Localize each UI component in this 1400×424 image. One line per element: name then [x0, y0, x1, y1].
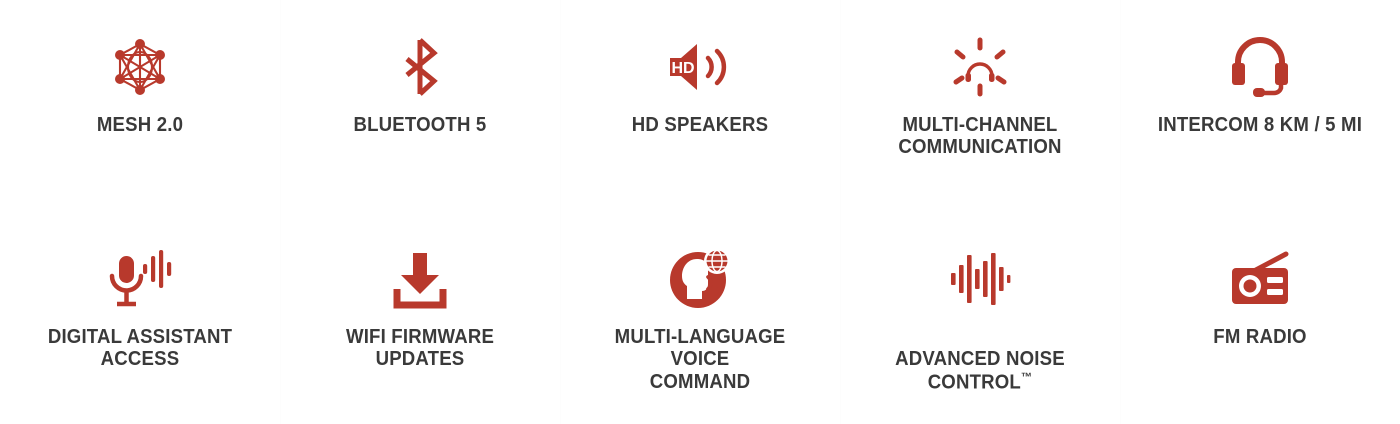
feature-item-wifi-firmware[interactable]: WIFI FIRMWARE UPDATES [280, 212, 560, 424]
feature-label: INTERCOM 8 KM / 5 MI [1144, 114, 1377, 136]
hd-speaker-icon: HD [664, 0, 736, 110]
svg-text:HD: HD [671, 60, 694, 77]
trademark-symbol: ™ [1021, 370, 1032, 384]
feature-label: BLUETOOTH 5 [304, 114, 537, 136]
feature-item-intercom[interactable]: INTERCOM 8 KM / 5 MI [1120, 0, 1400, 212]
feature-row: DIGITAL ASSISTANT ACCESS WIFI FIRMWARE U… [0, 212, 1400, 424]
feature-label: MULTI-LANGUAGE VOICE COMMAND [584, 326, 817, 393]
feature-item-multi-language[interactable]: MULTI-LANGUAGE VOICE COMMAND [560, 212, 840, 424]
feature-row: MESH 2.0 BLUETOOTH 5 HD [0, 0, 1400, 212]
feature-item-noise-control[interactable]: ADVANCED NOISE CONTROL™ [840, 212, 1120, 424]
feature-label: MULTI-CHANNEL COMMUNICATION [864, 114, 1097, 159]
speaking-head-globe-icon [667, 212, 733, 322]
headset-icon [1228, 0, 1292, 110]
microphone-voice-icon [103, 212, 177, 322]
feature-label: ADVANCED NOISE CONTROL™ [864, 326, 1097, 394]
feature-grid: MESH 2.0 BLUETOOTH 5 HD [0, 0, 1400, 424]
download-tray-icon [390, 212, 450, 322]
feature-item-fm-radio[interactable]: FM RADIO [1120, 212, 1400, 424]
radio-icon [1228, 212, 1292, 322]
audio-waveform-icon [949, 212, 1011, 322]
feature-label: HD SPEAKERS [584, 114, 817, 136]
bluetooth-icon [396, 0, 444, 110]
feature-label: WIFI FIRMWARE UPDATES [304, 326, 537, 371]
feature-item-hd-speakers[interactable]: HD HD SPEAKERS [560, 0, 840, 212]
feature-item-bluetooth[interactable]: BLUETOOTH 5 [280, 0, 560, 212]
feature-item-digital-assistant[interactable]: DIGITAL ASSISTANT ACCESS [0, 212, 280, 424]
feature-item-mesh[interactable]: MESH 2.0 [0, 0, 280, 212]
feature-item-multi-channel[interactable]: MULTI-CHANNEL COMMUNICATION [840, 0, 1120, 212]
feature-label: FM RADIO [1144, 326, 1377, 348]
feature-label: DIGITAL ASSISTANT ACCESS [24, 326, 257, 371]
feature-label: MESH 2.0 [24, 114, 257, 136]
feature-label-text: ADVANCED NOISE CONTROL [895, 348, 1065, 393]
multi-channel-headset-icon [945, 0, 1015, 110]
mesh-network-icon [107, 0, 173, 110]
